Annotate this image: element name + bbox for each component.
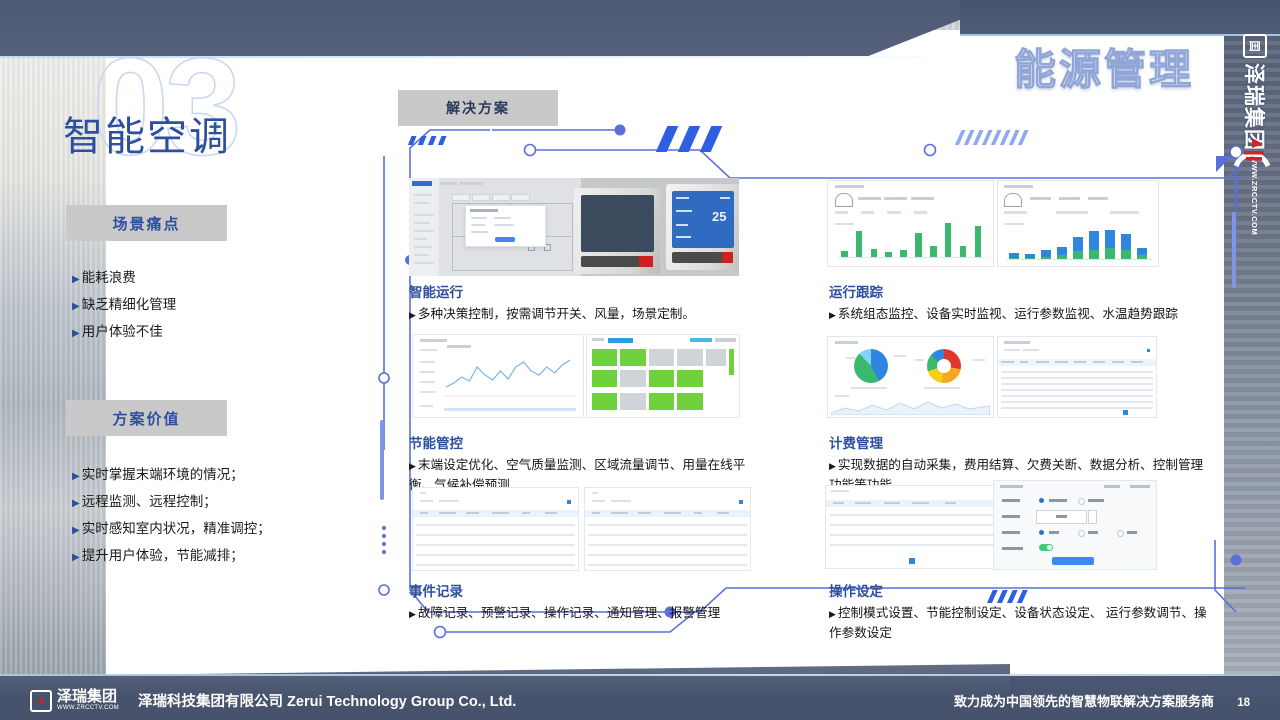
radio-mid[interactable] [1078,530,1085,537]
dialog-label-wind [1002,531,1020,534]
dialog-confirm-button[interactable] [1052,557,1094,565]
cell-desc: ▶故障记录、预警记录、操作记录、通知管理、报警管理 [409,604,789,624]
list-item-label: 能耗浪费 [82,270,136,285]
list-item: ▶实时感知室内状况，精准调控； [72,516,352,543]
radio-manual[interactable] [1078,498,1085,505]
list-item-label: 实时感知室内状况，精准调控； [82,521,271,536]
screenshot-event-table-right [584,487,751,571]
radio-auto[interactable] [1039,498,1044,503]
screenshot-run-tracking-right [997,180,1159,267]
solution-value-box-label: 方案价值 [112,408,180,429]
radio-high[interactable] [1039,530,1044,535]
triangle-bullet-icon: ▶ [72,498,80,509]
list-item: ▶远程监测、远程控制； [72,489,352,516]
thermostat-device-dark [574,188,660,274]
screenshot-run-tracking-left [827,180,994,267]
brand-vertical-bar: 囯 泽瑞集团 WWW.ZRCCTV.COM [1224,0,1280,720]
pain-points-box: 场景痛点 [66,205,227,241]
triangle-bullet-icon: ▶ [409,609,416,619]
footer-logo: 泽瑞集团 WWW.ZRCCTV.COM [30,689,119,712]
stepper-arrows-icon[interactable] [1088,510,1097,524]
screenshot-control-dialog [993,480,1157,570]
cell-intelligent-operation: 智能运行 ▶多种决策控制，按需调节开关、风量，场景定制。 [409,281,789,325]
solution-value-list: ▶实时掌握末端环境的情况； ▶远程监测、远程控制； ▶实时感知室内状况，精准调控… [72,462,352,570]
triangle-bullet-icon: ▶ [72,328,80,339]
cell-event-record: 事件记录 ▶故障记录、预警记录、操作记录、通知管理、报警管理 [409,580,789,624]
screenshot-billing-table [997,336,1157,418]
solution-tag: 解决方案 [398,90,558,126]
screenshot-billing-charts [827,336,994,418]
dialog-label-mode [1002,499,1020,502]
area-chart [831,397,989,415]
list-item: ▶缺乏精细化管理 [72,292,352,319]
list-item-label: 远程监测、远程控制； [82,494,217,509]
pain-points-list: ▶能耗浪费 ▶缺乏精细化管理 ▶用户体验不佳 [72,265,352,346]
footer-logo-icon [30,690,52,712]
screenshot-energy-control-line [412,334,584,418]
triangle-bullet-icon: ▶ [829,609,836,619]
keyboard-lock-toggle[interactable] [1039,544,1053,551]
cell-desc-text: 故障记录、预警记录、操作记录、通知管理、报警管理 [418,606,720,620]
cell-heading: 操作设定 [829,580,1207,600]
solution-value-box: 方案价值 [66,400,227,436]
footer-company-name: 泽瑞科技集团有限公司 Zerui Technology Group Co., L… [138,690,516,711]
cell-desc-text: 系统组态监控、设备实时监视、运行参数监视、水温趋势跟踪 [838,307,1178,321]
triangle-bullet-icon: ▶ [829,461,836,471]
thermostat-temperature: 25 [712,210,726,223]
radio-low[interactable] [1117,530,1124,537]
footer-logo-name: 泽瑞集团 [57,689,119,704]
cell-energy-control: 节能管控 ▶末端设定优化、空气质量监测、区域流量调节、用量在线平衡、气候补偿预测 [409,432,769,495]
cell-heading: 节能管控 [409,432,769,452]
pie-chart [854,349,888,383]
triangle-bullet-icon: ▶ [72,471,80,482]
pain-points-box-label: 场景痛点 [112,213,180,234]
list-item: ▶用户体验不佳 [72,319,352,346]
list-item-label: 用户体验不佳 [82,324,163,339]
cell-run-tracking: 运行跟踪 ▶系统组态监控、设备实时监视、运行参数监视、水温趋势跟踪 [829,281,1209,325]
cell-operation-setting: 操作设定 ▶控制模式设置、节能控制设定、设备状态设定、 运行参数调节、操作参数设… [829,580,1207,643]
slide-root: 能源管理 03 智能空调 场景痛点 ▶能耗浪费 ▶缺乏精细化管理 ▶用户体验不佳… [0,0,1280,720]
bottom-bar-hairline [0,674,1280,676]
thermostat-device-blue: 25 [666,184,739,270]
cell-desc-text: 多种决策控制，按需调节开关、风量，场景定制。 [418,307,695,321]
brand-mark-icon: 囯 [1243,34,1267,58]
list-item: ▶能耗浪费 [72,265,352,292]
list-item: ▶提升用户体验，节能减排； [72,543,352,570]
header-title: 能源管理 [1014,36,1194,97]
screenshot-operation-table [825,485,1007,569]
footer-logo-url: WWW.ZRCCTV.COM [57,704,119,712]
page-title: 智能空调 [63,104,363,162]
scada-dialog [465,205,546,247]
thermostat-screen: 25 [672,191,734,248]
triangle-bullet-icon: ▶ [409,461,416,471]
cell-desc: ▶系统组态监控、设备实时监视、运行参数监视、水温趋势跟踪 [829,305,1209,325]
cell-desc: ▶控制模式设置、节能控制设定、设备状态设定、 运行参数调节、操作参数设定 [829,604,1207,643]
triangle-bullet-icon: ▶ [72,552,80,563]
cell-heading: 运行跟踪 [829,281,1209,301]
cell-heading: 事件记录 [409,580,789,600]
cell-heading: 计费管理 [829,432,1207,452]
triangle-bullet-icon: ▶ [409,310,416,320]
cell-desc-text: 控制模式设置、节能控制设定、设备状态设定、 运行参数调节、操作参数设定 [829,606,1207,640]
triangle-bullet-icon: ▶ [829,310,836,320]
dialog-label-temp [1002,515,1020,518]
list-item: ▶实时掌握末端环境的情况； [72,462,352,489]
screenshot-event-table-left [412,487,579,571]
header-title-text: 能源管理 [1014,46,1194,93]
screenshot-intelligent-operation: 25 [409,178,739,276]
list-item-label: 实时掌握末端环境的情况； [82,467,244,482]
cell-heading: 智能运行 [409,281,789,301]
triangle-bullet-icon: ▶ [72,274,80,285]
triangle-bullet-icon: ▶ [72,525,80,536]
list-item-label: 提升用户体验，节能减排； [82,548,244,563]
screenshot-energy-control-grid [586,334,740,418]
page-number: 18 [1237,697,1250,709]
cell-desc: ▶多种决策控制，按需调节开关、风量，场景定制。 [409,305,789,325]
triangle-bullet-icon: ▶ [72,301,80,312]
list-item-label: 缺乏精细化管理 [82,297,177,312]
dialog-label-lock [1002,547,1023,550]
line-chart [444,353,577,397]
brand-logo-icon [1230,118,1274,172]
footer-slogan: 致力成为中国领先的智慧物联解决方案服务商 [954,691,1214,710]
solution-tag-label: 解决方案 [446,98,510,118]
